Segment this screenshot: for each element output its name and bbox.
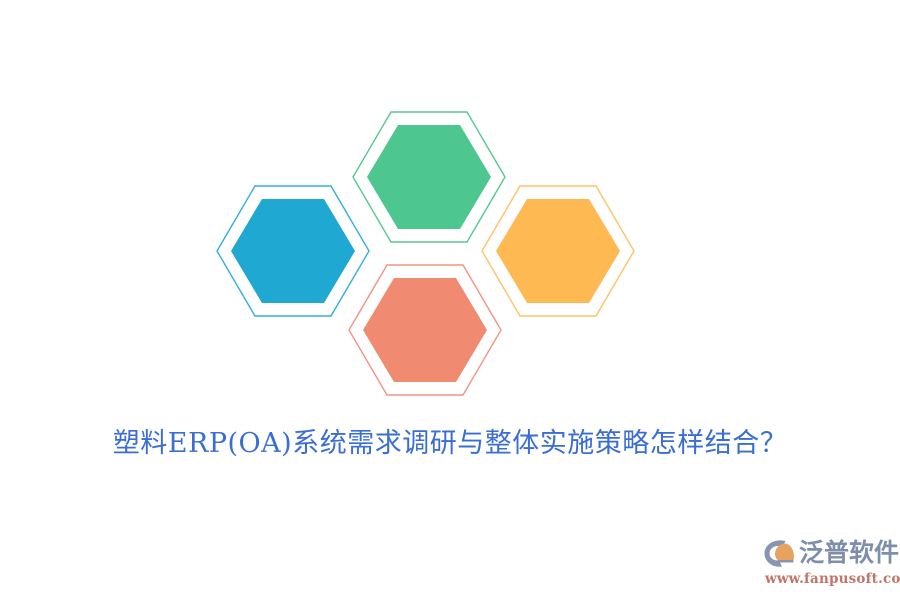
page-title: 塑料ERP(OA)系统需求调研与整体实施策略怎样结合？ [0, 424, 900, 464]
page-canvas: 塑料ERP(OA)系统需求调研与整体实施策略怎样结合？ 泛普软件 www.fan… [0, 0, 900, 600]
green-hexagon [353, 112, 505, 242]
orange-hexagon [482, 186, 634, 316]
blue-hexagon [217, 186, 369, 316]
salmon-hexagon-fill [363, 278, 487, 382]
orange-hexagon-fill [496, 199, 620, 303]
fanpu-icon-bar [778, 560, 794, 563]
fanpu-logo-icon [762, 537, 796, 569]
hexagon-cluster-graphic [0, 0, 900, 440]
salmon-hexagon [349, 265, 501, 395]
blue-hexagon-fill [231, 199, 355, 303]
watermark-url: www.fanpusoft.com [765, 571, 900, 587]
green-hexagon-fill [367, 125, 491, 229]
watermark-brand-name: 泛普软件 [799, 538, 899, 568]
watermark-logo-row: 泛普软件 [762, 536, 899, 570]
hexagon-cluster-svg [0, 0, 900, 440]
watermark-logo: 泛普软件 www.fanpusoft.com [762, 536, 894, 594]
